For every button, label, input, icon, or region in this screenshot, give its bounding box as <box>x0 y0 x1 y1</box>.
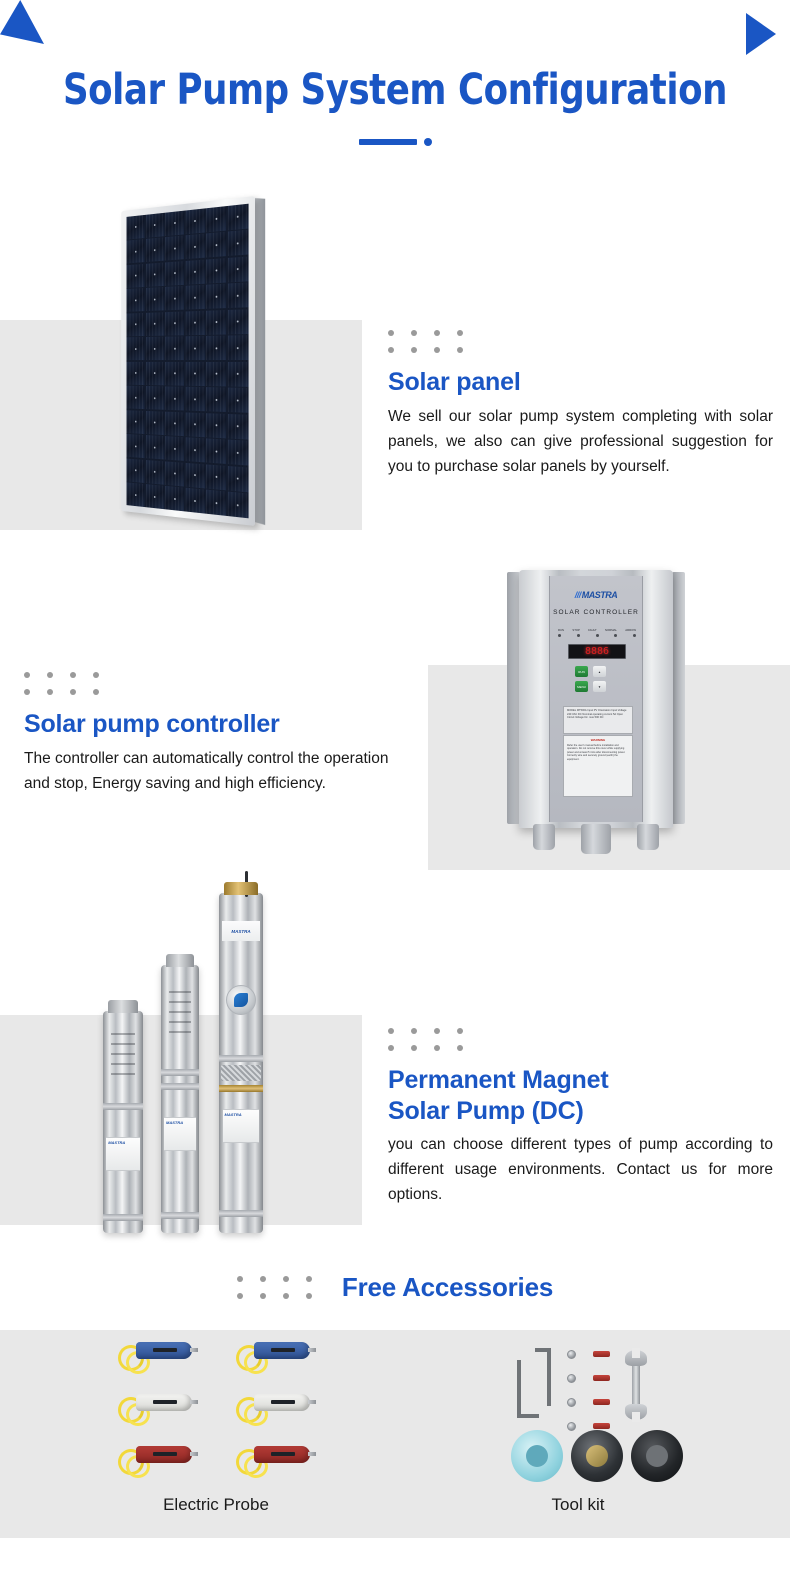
title-divider <box>0 138 790 146</box>
pump-heading-line-2: Solar Pump (DC) <box>388 1097 584 1125</box>
electrical-tape-roll <box>631 1430 683 1482</box>
controller-heatsink-right <box>672 572 685 824</box>
accessories-heading-row: Free Accessories <box>0 1272 790 1303</box>
controller-warning-title: WARNING <box>567 738 629 742</box>
controller-seven-segment-display: 8886 <box>568 644 626 659</box>
hex-key-large-arm <box>517 1414 539 1418</box>
section-body-controller: The controller can automatically control… <box>24 746 414 796</box>
controller-warning-text: Refer the user's manual before installat… <box>567 744 629 761</box>
led-lamp-arrow <box>633 634 636 637</box>
section-body-pump: you can choose different types of pump a… <box>388 1132 773 1207</box>
section-heading-pump: Permanent Magnet Solar Pump (DC) <box>388 1065 773 1126</box>
cable-gland-left <box>533 824 555 850</box>
pump-small: MASTRA <box>103 1011 143 1233</box>
teflon-tape-roll <box>511 1430 563 1482</box>
pump-large-brass-cap <box>224 882 257 895</box>
pump-heading-line-1: Permanent Magnet <box>388 1066 608 1094</box>
solar-panel-cells <box>127 204 249 519</box>
controller-body: MASTRA SOLAR CONTROLLER RUN STOP FAULT N… <box>519 570 673 828</box>
crimp-connector-2 <box>593 1375 610 1381</box>
led-lamp-stop <box>577 634 580 637</box>
triangle-left-decoration-icon <box>0 0 44 44</box>
led-label-run: RUN <box>558 628 564 632</box>
section-heading-controller: Solar pump controller <box>24 709 414 740</box>
triangle-right-decoration-icon <box>746 13 776 55</box>
controller-display-value: 8886 <box>585 647 609 657</box>
divider-dot-icon <box>424 138 432 146</box>
probe-blue-right <box>236 1342 310 1359</box>
probe-blue-left <box>118 1342 192 1359</box>
solar-panel-frame <box>121 196 255 526</box>
coiled-accessory-roll <box>571 1430 623 1482</box>
pump-small-cap <box>108 1000 138 1013</box>
probe-white-left <box>118 1394 192 1411</box>
dot-grid-4x2-icon <box>388 330 460 353</box>
section-solar-pump-controller: Solar pump controller The controller can… <box>24 672 414 796</box>
accessories-heading: Free Accessories <box>342 1272 553 1303</box>
controller-button-up[interactable]: ▲ <box>593 666 606 677</box>
pump-large-label: MASTRA <box>223 1109 260 1143</box>
led-lamp-run <box>558 634 561 637</box>
controller-led-lamps <box>558 634 636 637</box>
probe-red-right <box>236 1446 310 1463</box>
led-lamp-normal <box>614 634 617 637</box>
crimp-connector-1 <box>593 1351 610 1357</box>
pump-medium-label: MASTRA <box>164 1117 196 1151</box>
controller-led-labels: RUN STOP FAULT NORMAL ARROW <box>558 628 636 632</box>
controller-led-group: RUN STOP FAULT NORMAL ARROW <box>558 628 636 637</box>
section-solar-panel: Solar panel We sell our solar pump syste… <box>388 330 773 479</box>
crimp-connector-4 <box>593 1423 610 1429</box>
solar-controller-image: MASTRA SOLAR CONTROLLER RUN STOP FAULT N… <box>505 562 687 852</box>
bolt-4 <box>567 1422 576 1431</box>
led-label-stop: STOP <box>572 628 580 632</box>
tool-kit-image <box>505 1338 685 1486</box>
controller-panel-title: SOLAR CONTROLLER <box>550 609 642 616</box>
solar-panel-side-edge <box>255 198 265 525</box>
pump-small-label: MASTRA <box>106 1137 140 1171</box>
open-end-wrench-icon <box>625 1350 647 1420</box>
controller-spec-label: MODEL MT500A Input PV Orientation Input … <box>563 706 633 734</box>
hex-key-small-shaft <box>547 1348 551 1406</box>
controller-front-face: MASTRA SOLAR CONTROLLER RUN STOP FAULT N… <box>549 576 643 822</box>
section-permanent-magnet-pump: Permanent Magnet Solar Pump (DC) you can… <box>388 1028 773 1207</box>
cable-gland-center <box>581 824 611 854</box>
pump-large: MASTRA MASTRA <box>219 893 263 1233</box>
bolt-1 <box>567 1350 576 1359</box>
page-title: Solar Pump System Configuration <box>32 65 759 115</box>
section-heading-solar-panel: Solar panel <box>388 367 773 398</box>
controller-brand-logo: MASTRA <box>550 590 642 600</box>
controller-button-down[interactable]: ▼ <box>593 681 606 692</box>
bolt-3 <box>567 1398 576 1407</box>
led-label-fault: FAULT <box>588 628 597 632</box>
bolt-2 <box>567 1374 576 1383</box>
probe-red-left <box>118 1446 192 1463</box>
electric-probes-image <box>118 1338 348 1486</box>
solar-panel-image <box>121 196 255 526</box>
controller-button-run[interactable]: RUN <box>575 666 588 677</box>
controller-cable-glands <box>533 824 659 854</box>
submersible-pumps-image: MASTRA MASTRA MASTRA <box>95 888 275 1233</box>
controller-warning-label: WARNING Refer the user's manual before i… <box>563 735 633 797</box>
infographic-page: Solar Pump System Configuration <box>0 0 790 1570</box>
crimp-connector-3 <box>593 1399 610 1405</box>
caption-tool-kit: Tool kit <box>458 1495 698 1515</box>
probe-white-right <box>236 1394 310 1411</box>
hex-key-large-shaft <box>517 1360 521 1418</box>
hex-key-small-arm <box>535 1348 551 1352</box>
controller-button-menu[interactable]: MENU <box>575 681 588 692</box>
pump-medium-cap <box>166 954 195 967</box>
controller-keypad: RUN ▲ MENU ▼ <box>575 666 619 696</box>
dot-grid-4x2-icon <box>388 1028 460 1051</box>
section-body-solar-panel: We sell our solar pump system completing… <box>388 404 773 479</box>
pump-wave-emblem-icon <box>226 985 256 1015</box>
caption-electric-probe: Electric Probe <box>96 1495 336 1515</box>
cable-gland-right <box>637 824 659 850</box>
pump-medium: MASTRA <box>161 965 199 1233</box>
dot-grid-4x2-icon <box>237 1276 309 1299</box>
led-label-arrow: ARROW <box>625 628 636 632</box>
led-label-normal: NORMAL <box>605 628 617 632</box>
led-lamp-fault <box>596 634 599 637</box>
pump-large-brand-strip: MASTRA <box>222 921 261 941</box>
pump-large-intake-mesh <box>221 1065 261 1081</box>
dot-grid-4x2-icon <box>24 672 96 695</box>
divider-bar-icon <box>359 139 417 145</box>
